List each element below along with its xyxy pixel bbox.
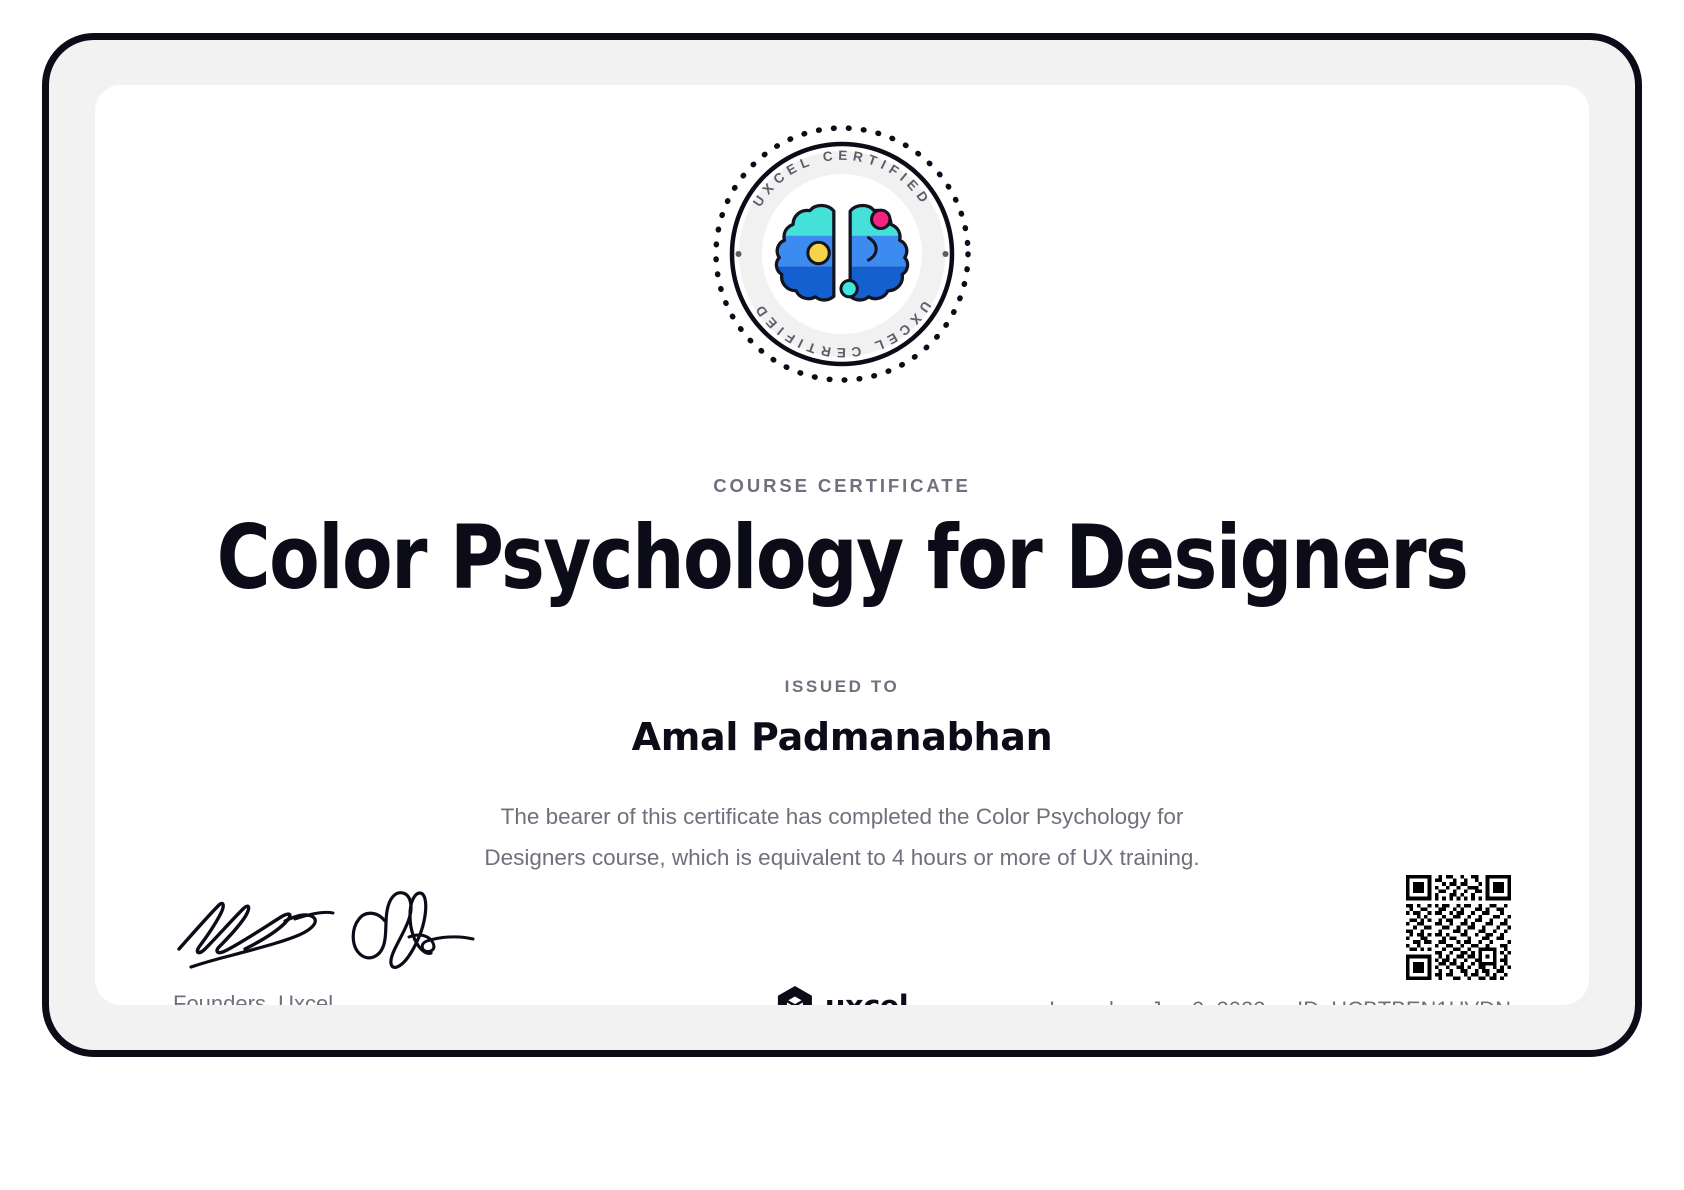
founder-signatures [173,885,483,977]
badge-separator-dot-left [736,251,742,257]
certificate-frame: UXCEL CERTIFIED UXCEL CERTIFIED [42,33,1642,1057]
certificate-description: The bearer of this certificate has compl… [462,797,1222,879]
brain-yellow-dot [808,242,829,263]
meta-separator: · [1272,997,1291,1005]
brain-pink-dot [872,210,890,228]
issued-on-text: Issued on Jan 9, 2022 [1049,997,1266,1005]
badge-graphic: UXCEL CERTIFIED UXCEL CERTIFIED [708,120,976,388]
recipient-name: Amal Padmanabhan [95,715,1589,759]
certificate-meta: Issued on Jan 9, 2022 · ID: HCBTBEN1HVDN [1049,997,1511,1005]
uxcel-certified-badge: UXCEL CERTIFIED UXCEL CERTIFIED [708,120,976,388]
founder-signature-right [353,893,473,968]
course-title: Color Psychology for Designers [147,510,1536,607]
uxcel-cube-hexagon-logo [776,985,814,1005]
uxcel-wordmark: uxcel [825,989,908,1005]
uxcel-brand-lockup: uxcel [776,985,908,1005]
qr-code-graphic [1406,875,1511,980]
brain-cyan-dot [841,281,857,297]
badge-separator-dot-right [943,251,949,257]
certification-badge-wrapper: UXCEL CERTIFIED UXCEL CERTIFIED [95,120,1589,388]
issued-to-label: ISSUED TO [95,677,1589,697]
signature-caption: Founders, Uxcel [173,991,503,1005]
certificate-id-text: ID: HCBTBEN1HVDN [1297,997,1511,1005]
verification-qr-code[interactable] [1406,875,1511,984]
founder-signature-left [179,903,333,967]
certificate-panel: UXCEL CERTIFIED UXCEL CERTIFIED [95,85,1589,1005]
course-certificate-eyebrow: COURSE CERTIFICATE [95,475,1589,497]
signature-block: Founders, Uxcel [173,885,503,1005]
